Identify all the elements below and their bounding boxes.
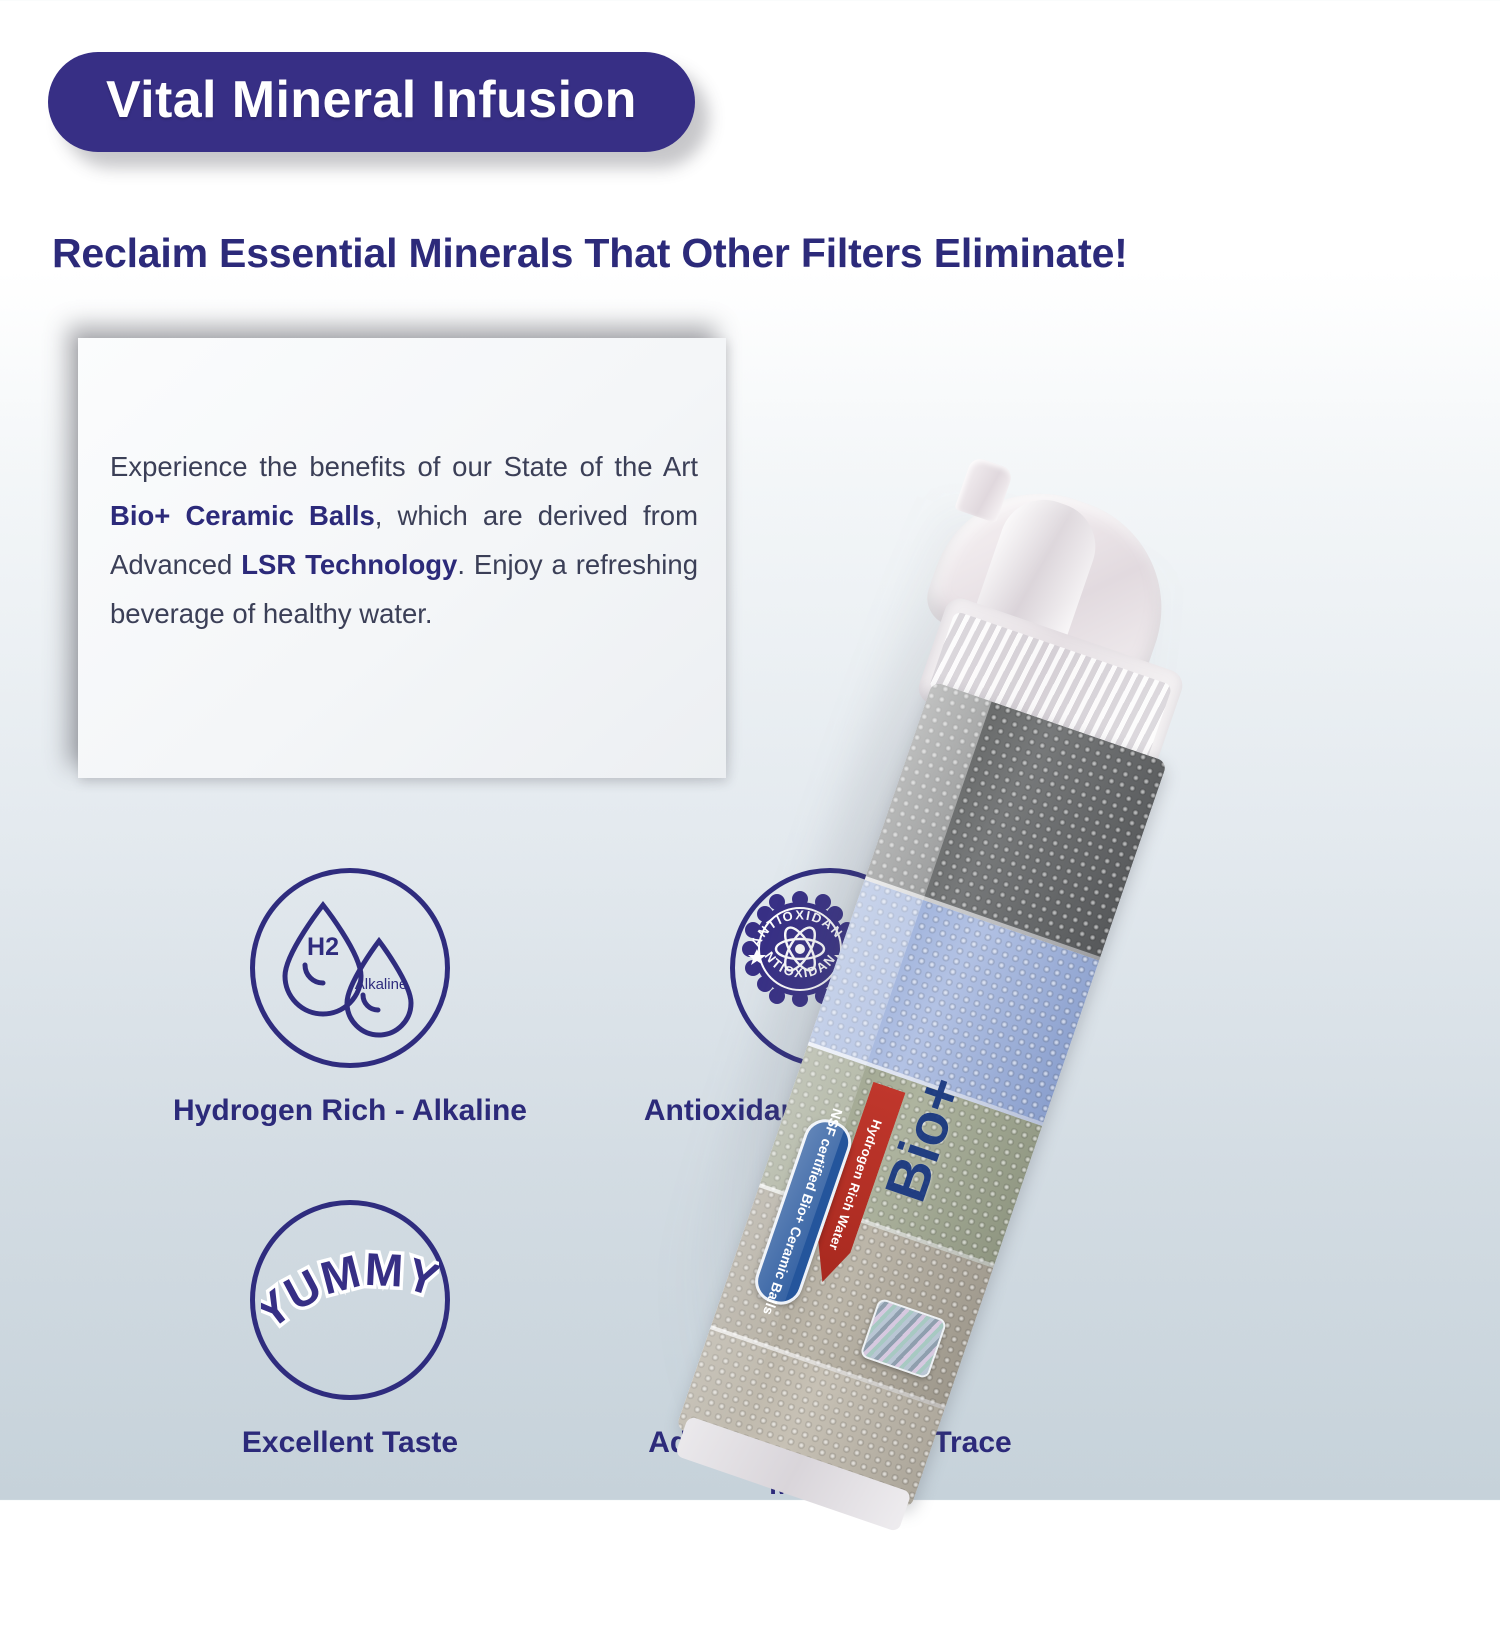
droplet-label-h2: H2 — [307, 933, 339, 961]
yummy-label: YUMMY — [261, 1243, 439, 1339]
yummy-icon: YUMMY — [250, 1200, 450, 1400]
product-image-water-filter-cartridge: Hydrogen Rich Water Bio+ NSF certified B… — [609, 443, 1500, 1609]
page-title-badge: Vital Mineral Infusion — [48, 52, 695, 152]
feature-caption-hydrogen: Hydrogen Rich - Alkaline — [173, 1090, 527, 1132]
description-seg-2: Bio+ Ceramic Balls — [110, 500, 375, 531]
droplet-label-alkaline: Alkaline — [355, 976, 408, 993]
feature-caption-taste: Excellent Taste — [242, 1422, 458, 1464]
svg-text:YUMMY: YUMMY — [261, 1243, 439, 1339]
description-seg-1: Experience the benefits of our State of … — [110, 451, 698, 482]
page-title: Vital Mineral Infusion — [106, 74, 637, 126]
description-card: Experience the benefits of our State of … — [78, 338, 726, 778]
description-text: Experience the benefits of our State of … — [110, 442, 698, 638]
feature-hydrogen-alkaline: H2 Alkaline Hydrogen Rich - Alkaline — [110, 868, 590, 1132]
feature-excellent-taste: YUMMY Excellent Taste — [110, 1200, 590, 1506]
water-droplets-icon: H2 Alkaline — [250, 868, 450, 1068]
description-seg-4: LSR Technology — [241, 549, 457, 580]
page-subtitle: Reclaim Essential Minerals That Other Fi… — [52, 230, 1128, 277]
